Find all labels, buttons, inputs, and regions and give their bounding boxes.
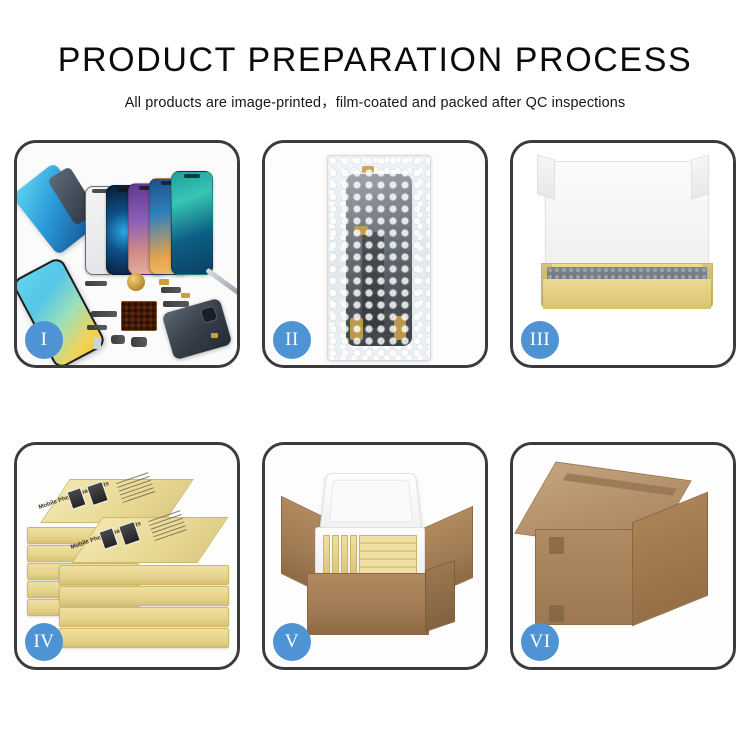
stacked-box-edge: [59, 565, 229, 585]
step-badge-3: III: [521, 321, 559, 359]
process-step-3: III: [510, 140, 736, 368]
yellow-box-item: [323, 535, 330, 575]
yellow-box-item-stacked: [359, 535, 417, 575]
flex-cable-icon: [85, 281, 107, 286]
screw-mat-icon: [121, 301, 157, 331]
sim-tray-icon: [93, 337, 101, 349]
step-badge-2: II: [273, 321, 311, 359]
stacked-box-edge: [59, 628, 229, 648]
carton-front-icon: [307, 573, 429, 635]
page-title: PRODUCT PREPARATION PROCESS: [0, 43, 750, 79]
process-step-4: Mobile Phone Spare Parts Mobile Phone Sp…: [14, 442, 240, 670]
carton-side-icon: [425, 560, 455, 632]
flex-cable-icon: [91, 311, 117, 317]
step-badge-4: IV: [25, 623, 63, 661]
carton-tape-patch: [549, 605, 564, 622]
bubble-texture-overlay: [328, 156, 430, 360]
carton-tape-patch: [549, 537, 564, 554]
stacked-box-edge: [59, 586, 229, 606]
yellow-box-front-icon: [543, 279, 711, 309]
back-housing-icon: [162, 298, 233, 361]
process-step-5: V: [262, 442, 488, 670]
process-step-2: II: [262, 140, 488, 368]
box-lid-flap-left-icon: [537, 154, 555, 199]
stacked-box-edge: [59, 607, 229, 627]
page-subtitle: All products are image-printed，film-coat…: [0, 91, 750, 112]
phone-screen-teal-icon: [171, 171, 213, 275]
speaker-coin-icon: [127, 273, 145, 291]
box-lid-icon: [545, 161, 709, 269]
product-preparation-infographic: PRODUCT PREPARATION PROCESS All products…: [0, 0, 750, 750]
flex-cable-icon: [163, 301, 189, 307]
gold-contact-icon: [159, 279, 169, 285]
gold-contact-icon: [211, 333, 218, 338]
flex-cable-icon: [87, 325, 107, 330]
yellow-box-item: [341, 535, 348, 575]
process-step-1: I: [14, 140, 240, 368]
step-badge-5: V: [273, 623, 311, 661]
camera-module-icon: [111, 335, 125, 344]
yellow-box-item: [350, 535, 357, 575]
process-steps-grid: I II: [14, 140, 736, 688]
yellow-boxes-inside: [323, 535, 419, 575]
step-badge-6: VI: [521, 623, 559, 661]
box-lid-flap-right-icon: [691, 154, 709, 199]
foam-cooler-lid-icon: [319, 473, 423, 531]
process-step-6: VI: [510, 442, 736, 670]
yellow-box-item: [332, 535, 339, 575]
spare-parts-cluster: [85, 273, 235, 358]
step-badge-1: I: [25, 321, 63, 359]
phone-screen-row: [75, 165, 235, 275]
gold-contact-icon: [181, 293, 190, 298]
battery-connector-icon: [131, 337, 147, 347]
bubble-wrap-bag-icon: [327, 155, 431, 361]
header: PRODUCT PREPARATION PROCESS All products…: [0, 0, 750, 112]
flex-cable-icon: [161, 287, 181, 293]
notch-icon: [184, 174, 200, 178]
